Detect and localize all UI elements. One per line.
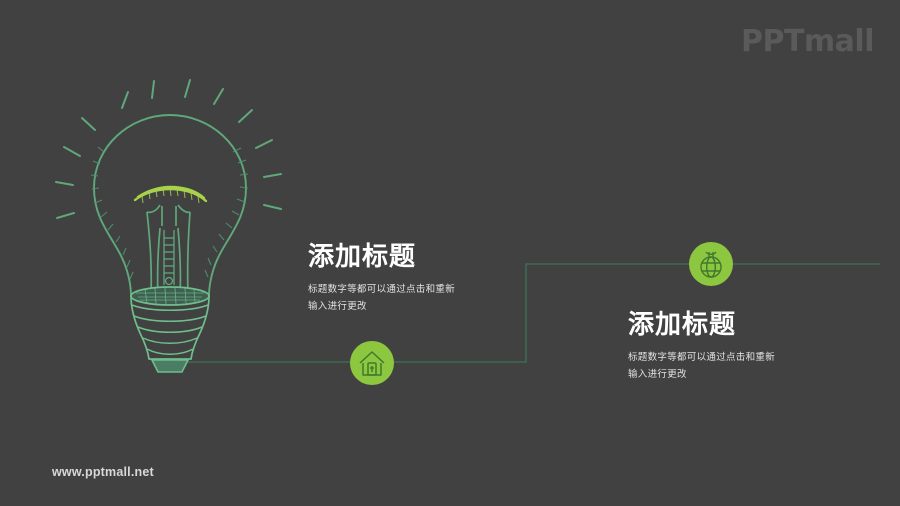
block-2-title[interactable]: 添加标题 [628,311,778,341]
node-house-bank[interactable] [350,341,394,385]
text-block-2: 添加标题 标题数字等都可以通过点击和重新输入进行更改 [628,311,778,383]
slide-canvas: 添加标题 标题数字等都可以通过点击和重新输入进行更改 添加标题 标题数字等都可以… [0,0,900,506]
footer-url: www.pptmall.net [52,465,154,479]
block-1-title[interactable]: 添加标题 [308,243,458,273]
text-block-1: 添加标题 标题数字等都可以通过点击和重新输入进行更改 [308,243,458,315]
node-money-bag[interactable] [689,242,733,286]
block-1-subtitle[interactable]: 标题数字等都可以通过点击和重新输入进行更改 [308,282,458,315]
node-2-circle[interactable] [689,242,733,286]
pptmall-logo: PPTmall [741,24,874,59]
block-2-subtitle[interactable]: 标题数字等都可以通过点击和重新输入进行更改 [628,350,778,383]
